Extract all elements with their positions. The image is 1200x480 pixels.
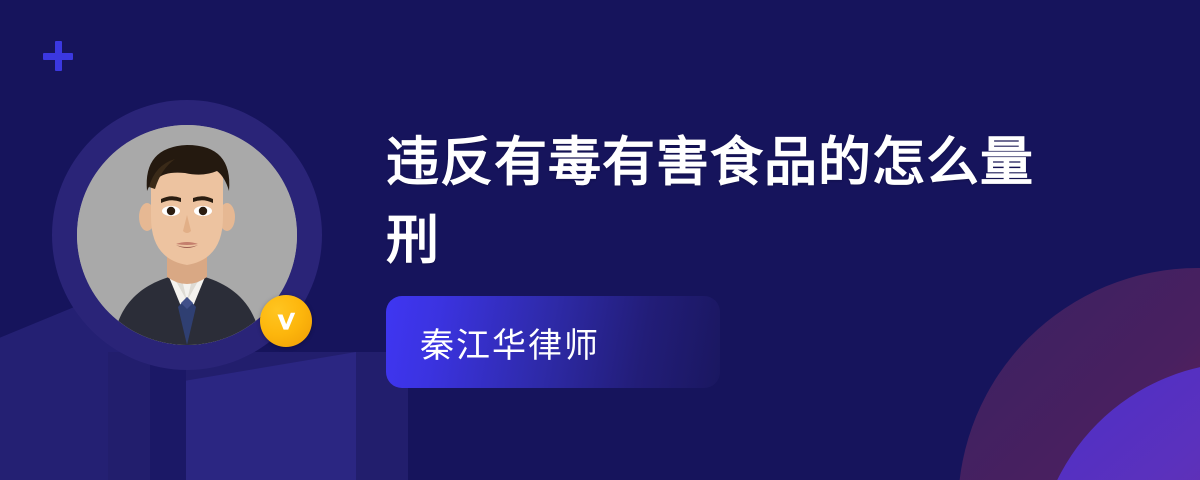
plus-icon-bar-vertical xyxy=(55,41,62,71)
video-cover-card: 违反有毒有害食品的怎么量刑 秦江华律师 xyxy=(0,0,1200,480)
decorative-polygon-d xyxy=(186,352,356,480)
plus-icon xyxy=(43,41,73,71)
page-title: 违反有毒有害食品的怎么量刑 xyxy=(386,124,1076,280)
decorative-polygon-b xyxy=(108,352,408,480)
content-block: 违反有毒有害食品的怎么量刑 秦江华律师 xyxy=(386,124,1126,388)
verified-check-icon xyxy=(260,295,312,347)
avatar[interactable] xyxy=(52,100,322,370)
lawyer-name-button[interactable]: 秦江华律师 xyxy=(386,296,720,388)
